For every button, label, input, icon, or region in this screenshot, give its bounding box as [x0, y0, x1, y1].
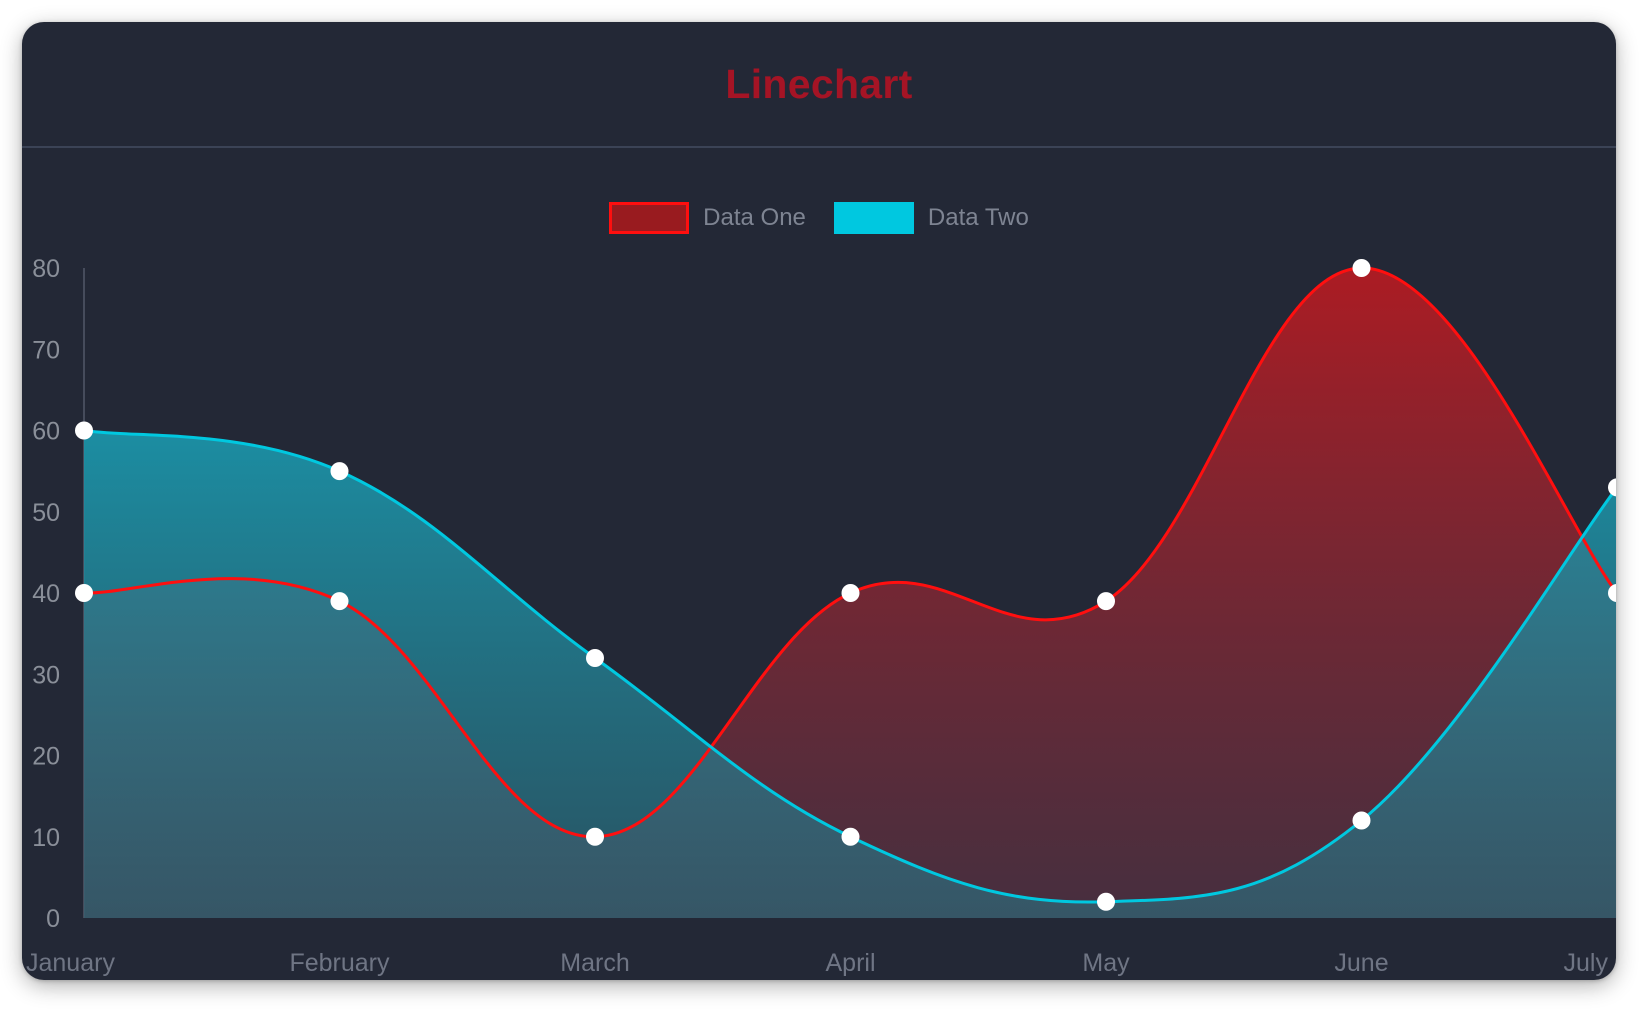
- data-point-data-one-june[interactable]: [1353, 259, 1371, 277]
- y-axis-tick-80: 80: [32, 255, 60, 283]
- y-axis-tick-50: 50: [32, 499, 60, 527]
- y-axis-tick-10: 10: [32, 824, 60, 852]
- page-title: Linechart: [725, 64, 912, 105]
- data-point-data-one-january[interactable]: [75, 584, 93, 602]
- chart-page: Linechart Data One Data Two 010203040506…: [0, 0, 1640, 1022]
- y-axis-tick-40: 40: [32, 580, 60, 608]
- y-axis-tick-60: 60: [32, 418, 60, 446]
- data-point-data-one-march[interactable]: [586, 828, 604, 846]
- linechart-svg[interactable]: 01020304050607080JanuaryFebruaryMarchApr…: [22, 148, 1616, 980]
- x-axis-tick-april: April: [825, 949, 875, 977]
- data-point-data-one-april[interactable]: [842, 584, 860, 602]
- y-axis-tick-20: 20: [32, 743, 60, 771]
- card-header: Linechart: [22, 22, 1616, 148]
- data-point-data-two-january[interactable]: [75, 422, 93, 440]
- data-point-data-one-may[interactable]: [1097, 592, 1115, 610]
- data-point-data-two-march[interactable]: [586, 649, 604, 667]
- x-axis-tick-january: January: [26, 949, 115, 977]
- x-axis-tick-june: June: [1334, 949, 1388, 977]
- y-axis-tick-70: 70: [32, 336, 60, 364]
- plot-area: 01020304050607080JanuaryFebruaryMarchApr…: [22, 148, 1616, 980]
- data-point-data-two-may[interactable]: [1097, 893, 1115, 911]
- x-axis-tick-february: February: [289, 949, 390, 977]
- x-axis-tick-july: July: [1564, 949, 1609, 977]
- data-point-data-one-february[interactable]: [331, 592, 349, 610]
- y-axis-tick-0: 0: [46, 905, 60, 933]
- data-point-data-two-july[interactable]: [1608, 478, 1616, 496]
- y-axis-tick-30: 30: [32, 661, 60, 689]
- chart-card: Linechart Data One Data Two 010203040506…: [22, 22, 1616, 980]
- data-point-data-two-february[interactable]: [331, 462, 349, 480]
- data-point-data-two-june[interactable]: [1353, 812, 1371, 830]
- x-axis-tick-may: May: [1082, 949, 1130, 977]
- data-point-data-two-april[interactable]: [842, 828, 860, 846]
- x-axis-tick-march: March: [560, 949, 629, 977]
